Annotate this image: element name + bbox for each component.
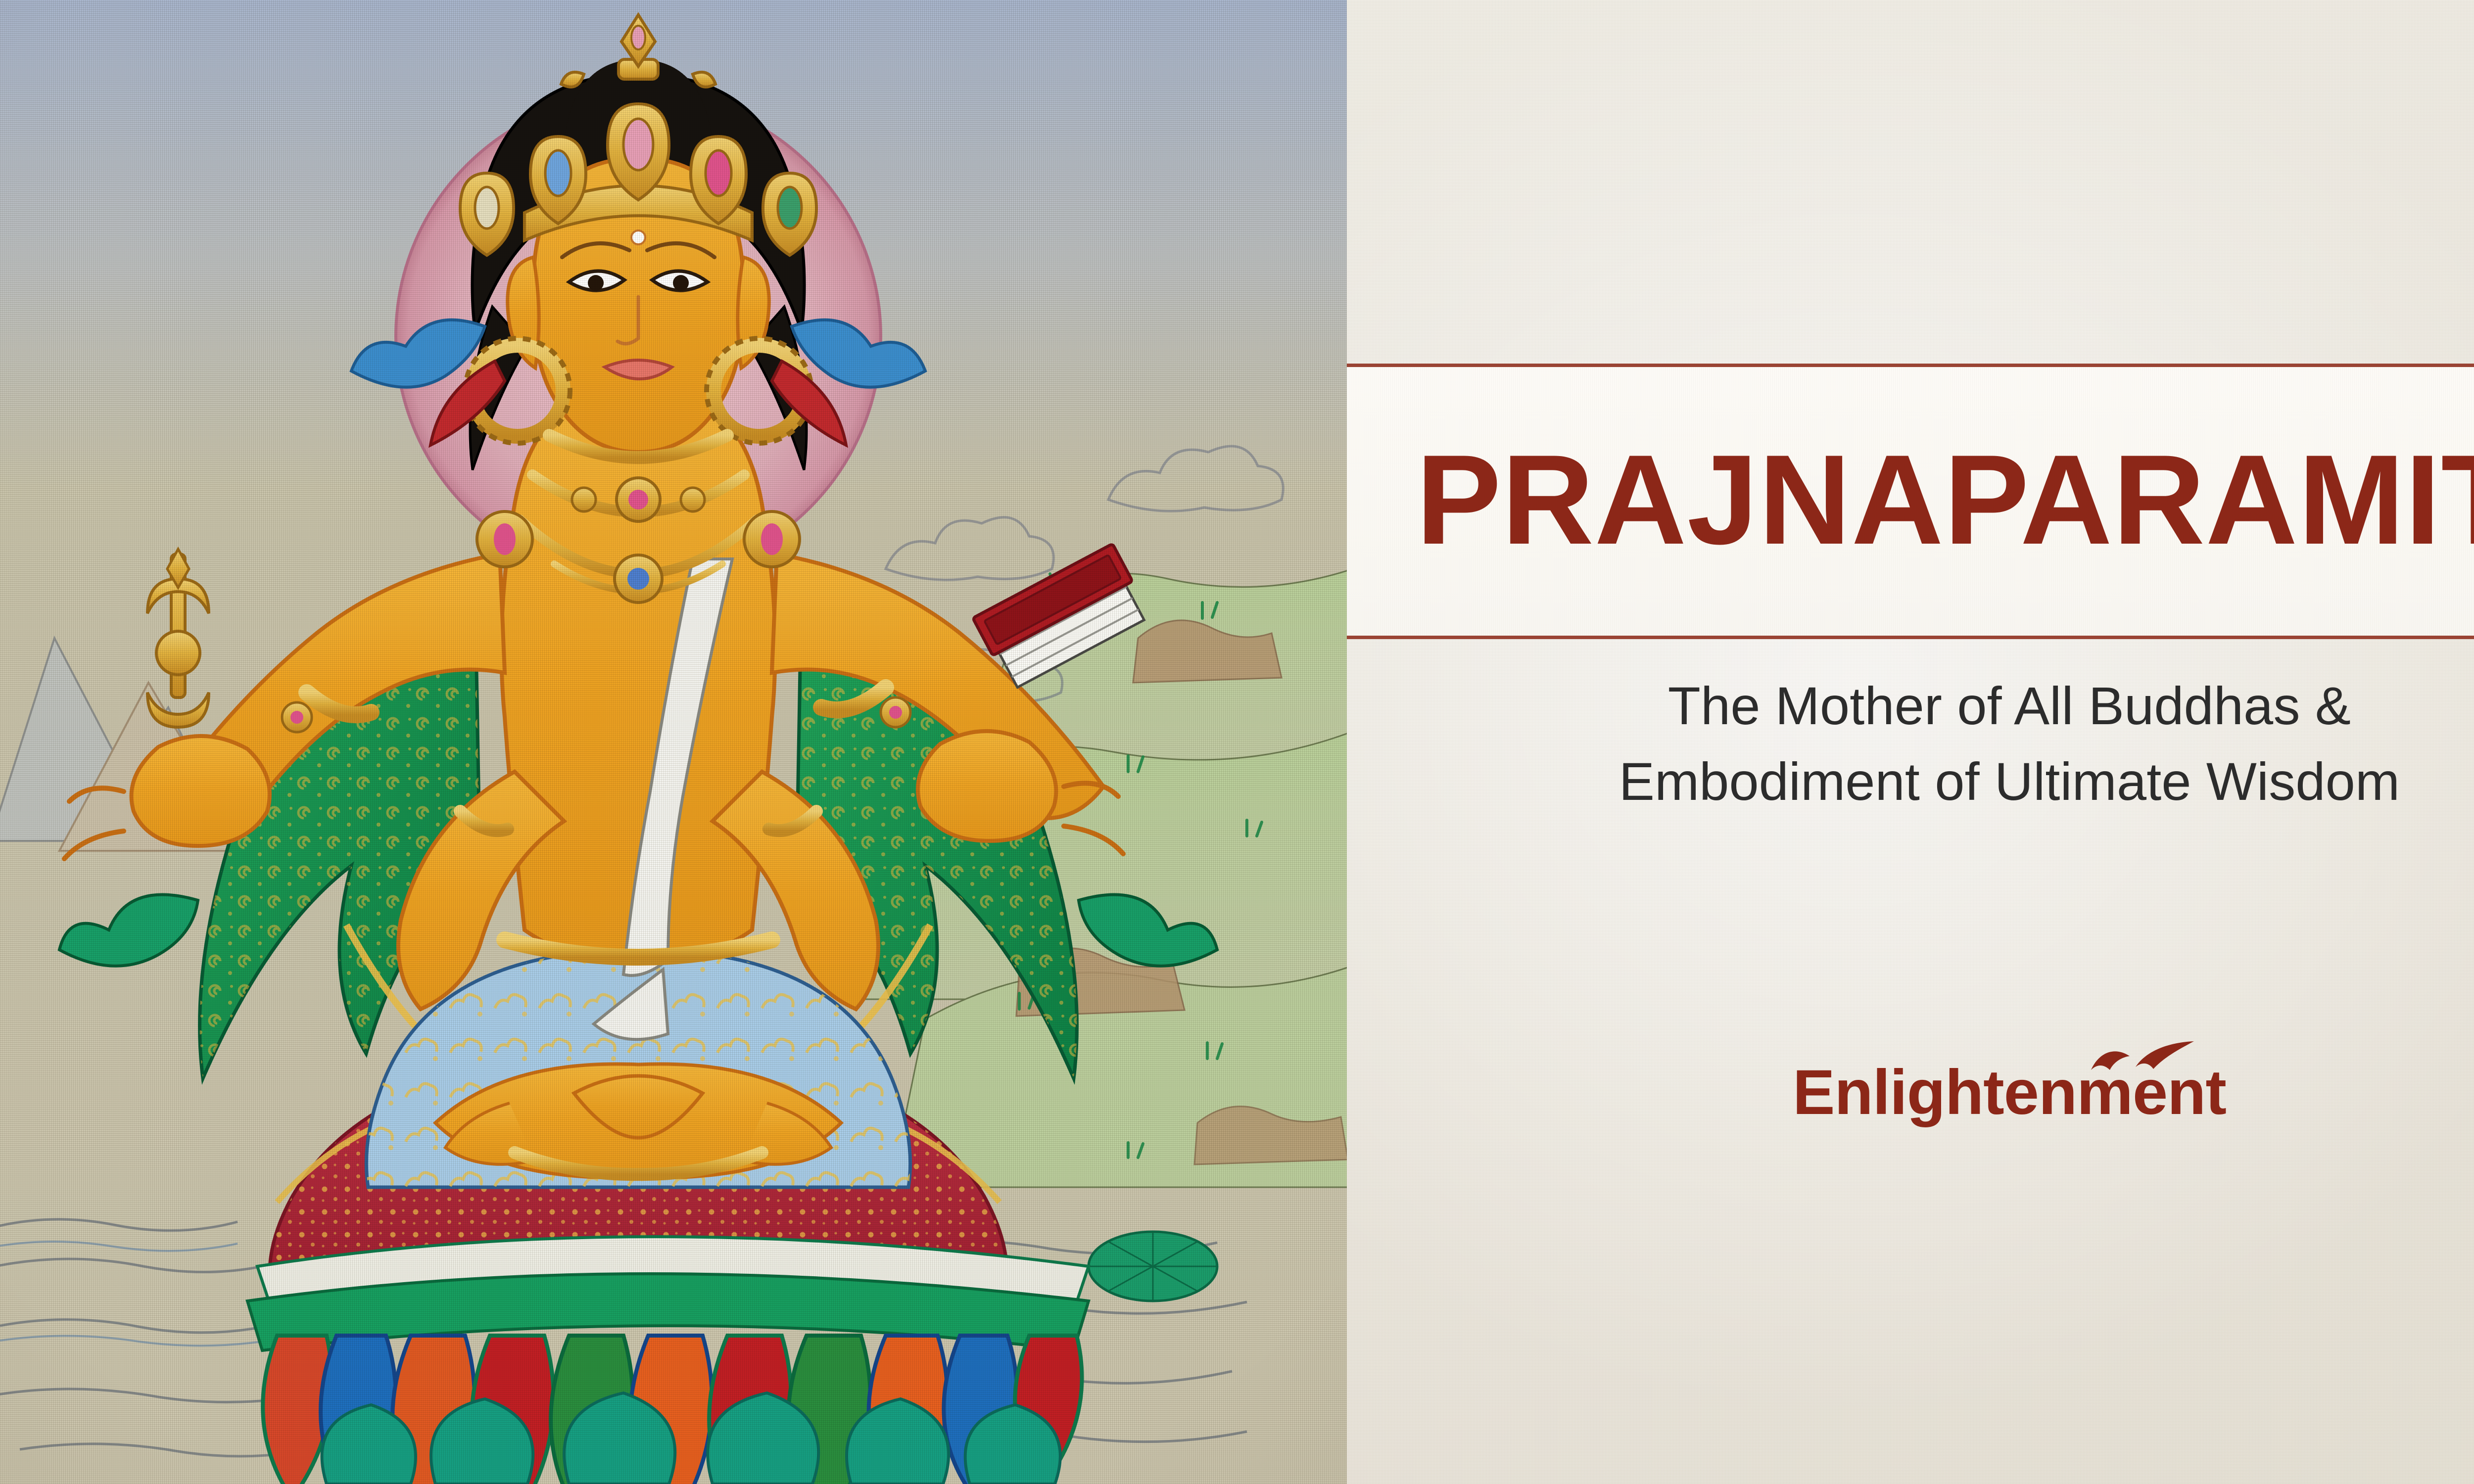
page-title: PRAJNAPARAMITA [1416,436,2474,563]
subtitle-line-2: Embodiment of Ultimate Wisdom [1347,743,2474,819]
prajnaparamita-thangka-image [0,0,1347,1484]
brand-logo[interactable]: Enlightenment [1347,1061,2474,1160]
title-band: PRAJNAPARAMITA [1347,364,2474,639]
logo-wordmark: Enlightenment [1793,1061,2226,1124]
subtitle-line-1: The Mother of All Buddhas & [1347,668,2474,743]
lotus-throne [247,1237,1089,1484]
subtitle: The Mother of All Buddhas & Embodiment o… [1347,668,2474,820]
text-panel: PRAJNAPARAMITA The Mother of All Buddhas… [1347,0,2474,1484]
presentation-slide: PRAJNAPARAMITA The Mother of All Buddhas… [0,0,2474,1484]
